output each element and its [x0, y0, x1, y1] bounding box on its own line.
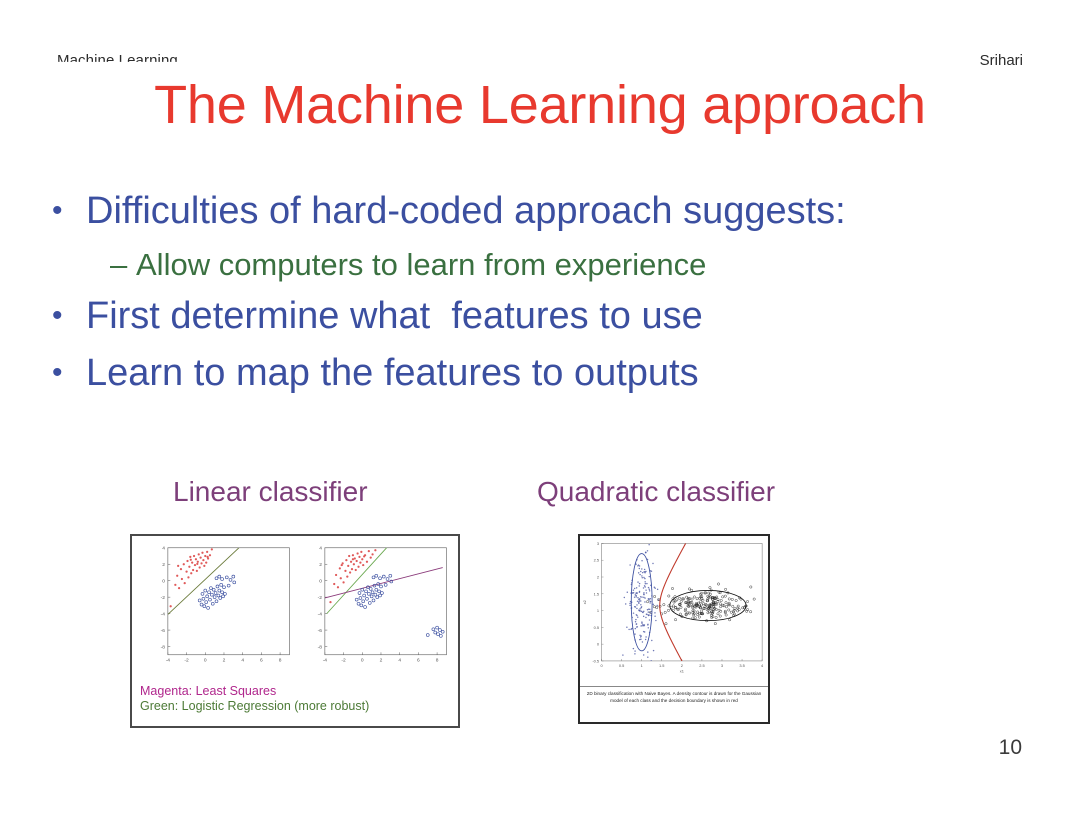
svg-text:3: 3 — [721, 663, 723, 668]
quadratic-classifier-caption: Quadratic classifier — [537, 476, 775, 508]
svg-text:4: 4 — [162, 546, 165, 552]
svg-text:-2: -2 — [341, 658, 346, 664]
svg-text:-6: -6 — [318, 628, 323, 634]
page-number: 10 — [999, 736, 1022, 760]
svg-text:0: 0 — [319, 578, 322, 584]
svg-text:8: 8 — [279, 658, 282, 664]
bullet-marker: • — [52, 354, 86, 392]
svg-text:-8: -8 — [161, 644, 166, 650]
bullet-text: Difficulties of hard-coded approach sugg… — [86, 192, 846, 230]
svg-text:3: 3 — [597, 541, 599, 546]
svg-text:-4: -4 — [318, 611, 323, 617]
svg-text:-2: -2 — [318, 595, 323, 601]
legend-magenta-least-squares: Magenta: Least Squares — [140, 684, 458, 699]
bullet-item-2-sub: – Allow computers to learn from experien… — [110, 249, 1032, 280]
svg-text:0: 0 — [162, 578, 165, 584]
svg-text:2: 2 — [319, 562, 322, 568]
svg-text:1: 1 — [641, 663, 643, 668]
bullet-marker: • — [52, 192, 86, 230]
svg-text:1.5: 1.5 — [594, 591, 600, 596]
svg-text:0: 0 — [204, 658, 207, 664]
svg-text:0: 0 — [597, 642, 600, 647]
svg-text:-0.5: -0.5 — [592, 658, 600, 663]
linear-plot-left: -4-202468420-2-4-6-8 — [138, 540, 295, 682]
svg-text:2: 2 — [223, 658, 226, 664]
linear-plot-right: -4-202468420-2-4-6-8 — [295, 540, 452, 682]
bullet-marker-dash: – — [110, 249, 136, 280]
scatter-plot-no-outliers: -4-202468420-2-4-6-8 — [138, 540, 295, 682]
svg-text:0.5: 0.5 — [619, 663, 625, 668]
bullet-marker: • — [52, 297, 86, 335]
linear-plots-row: -4-202468420-2-4-6-8 -4-202468420-2-4-6-… — [132, 536, 458, 682]
svg-text:0.5: 0.5 — [594, 625, 600, 630]
linear-classifier-caption: Linear classifier — [173, 476, 368, 508]
naive-bayes-decision-plot: 00.511.522.533.5432.521.510.50-0.5x1x2 — [580, 536, 768, 686]
legend-green-logistic-regression: Green: Logistic Regression (more robust) — [140, 699, 458, 714]
quadratic-classifier-figure: 00.511.522.533.5432.521.510.50-0.5x1x2 2… — [578, 534, 770, 724]
svg-text:2.5: 2.5 — [699, 663, 705, 668]
svg-text:1: 1 — [597, 608, 599, 613]
svg-text:0: 0 — [600, 663, 603, 668]
svg-text:4: 4 — [761, 663, 764, 668]
svg-text:-2: -2 — [184, 658, 189, 664]
svg-text:6: 6 — [417, 658, 420, 664]
svg-text:x2: x2 — [582, 600, 587, 604]
svg-text:x1: x1 — [680, 669, 684, 674]
svg-text:2.5: 2.5 — [594, 558, 600, 563]
bullet-item-4: • Learn to map the features to outputs — [52, 354, 1032, 392]
svg-text:-4: -4 — [323, 658, 328, 664]
svg-text:8: 8 — [436, 658, 439, 664]
linear-figure-legend: Magenta: Least Squares Green: Logistic R… — [132, 682, 458, 714]
svg-text:6: 6 — [260, 658, 263, 664]
page-title: The Machine Learning approach — [0, 74, 1080, 136]
header-course-label: Machine Learning — [57, 52, 178, 69]
bullet-text: Learn to map the features to outputs — [86, 354, 699, 392]
svg-text:2: 2 — [162, 562, 165, 568]
header-author-label: Srihari — [980, 52, 1023, 69]
bullet-text: First determine what features to use — [86, 297, 703, 335]
slide: Machine Learning Srihari The Machine Lea… — [0, 0, 1080, 834]
svg-text:-6: -6 — [161, 628, 166, 634]
svg-text:1.5: 1.5 — [659, 663, 665, 668]
svg-text:0: 0 — [361, 658, 364, 664]
svg-text:4: 4 — [241, 658, 244, 664]
linear-classifier-figure: -4-202468420-2-4-6-8 -4-202468420-2-4-6-… — [130, 534, 460, 728]
svg-text:2: 2 — [380, 658, 383, 664]
svg-text:4: 4 — [398, 658, 401, 664]
bullet-list: • Difficulties of hard-coded approach su… — [52, 192, 1032, 411]
bullet-text: Allow computers to learn from experience — [136, 249, 706, 280]
scatter-plot-with-outliers: -4-202468420-2-4-6-8 — [295, 540, 452, 682]
svg-text:-4: -4 — [166, 658, 171, 664]
svg-text:-2: -2 — [161, 595, 166, 601]
svg-text:4: 4 — [319, 546, 322, 552]
svg-text:2: 2 — [681, 663, 683, 668]
svg-text:3.5: 3.5 — [739, 663, 745, 668]
svg-text:2: 2 — [597, 574, 599, 579]
svg-text:-4: -4 — [161, 611, 166, 617]
bullet-item-1: • Difficulties of hard-coded approach su… — [52, 192, 1032, 230]
quadratic-figure-description: 2D binary classification with Naive Baye… — [580, 686, 768, 704]
bullet-item-3: • First determine what features to use — [52, 297, 1032, 335]
svg-text:-8: -8 — [318, 644, 323, 650]
